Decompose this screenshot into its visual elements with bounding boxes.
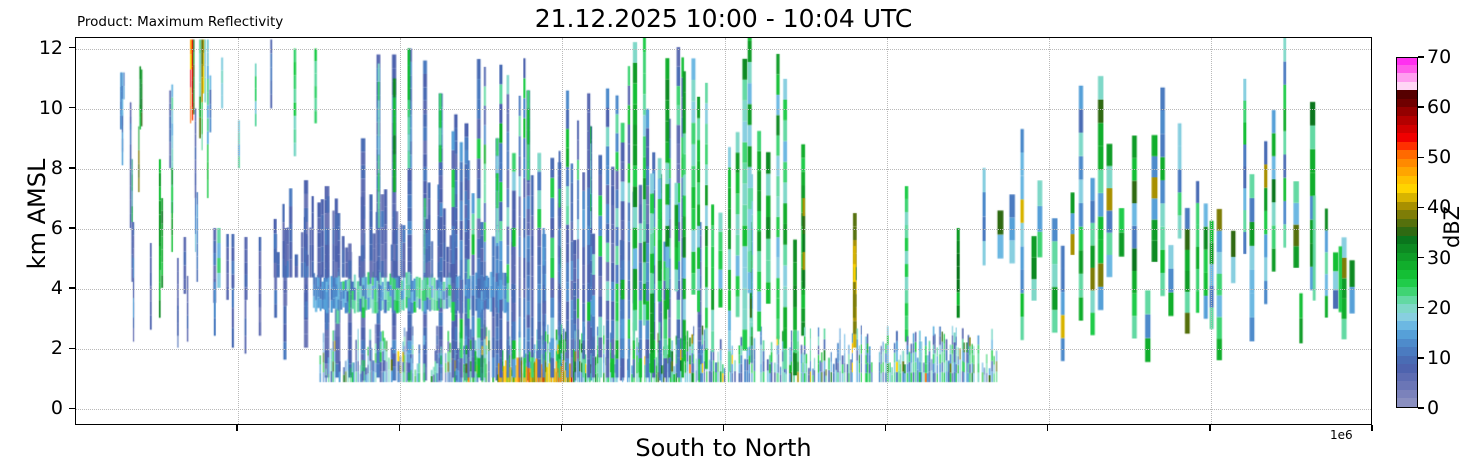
y-tick-label-8: 8	[51, 157, 63, 179]
colorbar-segment-22	[1397, 210, 1417, 219]
colorbar-label: dBZ	[1440, 167, 1464, 287]
colorbar-segment-18	[1397, 244, 1417, 253]
colorbar-segment-35	[1397, 98, 1417, 107]
gridline-y-2	[76, 349, 1371, 351]
x-tick-mark-1	[399, 425, 400, 431]
product-annotation: Product: Maximum Reflectivity	[77, 14, 283, 30]
colorbar-tick-label-20: 20	[1427, 297, 1451, 319]
y-tick-mark-12	[69, 47, 75, 48]
colorbar-tick-label-70: 70	[1427, 46, 1451, 68]
colorbar-segment-3	[1397, 372, 1417, 381]
x-tick-mark-4	[885, 425, 886, 431]
gridline-y-12	[76, 49, 1371, 51]
colorbar-tick-mark-30	[1418, 257, 1424, 258]
gridline-y-10	[76, 109, 1371, 111]
colorbar-segment-23	[1397, 201, 1417, 210]
x-axis-offset-text: 1e6	[1330, 428, 1353, 442]
x-tick-mark-5	[1047, 425, 1048, 431]
colorbar-tick-mark-70	[1418, 56, 1424, 57]
y-tick-label-0: 0	[51, 397, 63, 419]
gridline-x-2	[562, 38, 564, 424]
colorbar-segment-13	[1397, 287, 1417, 296]
colorbar-segment-16	[1397, 261, 1417, 270]
y-tick-mark-2	[69, 348, 75, 349]
colorbar-tick-mark-40	[1418, 207, 1424, 208]
gridline-y-8	[76, 169, 1371, 171]
colorbar-segment-7	[1397, 338, 1417, 347]
gridline-x-3	[725, 38, 727, 424]
gridline-x-5	[1049, 38, 1051, 424]
colorbar-segment-40	[1397, 57, 1417, 65]
gridline-y-4	[76, 289, 1371, 291]
x-tick-mark-0	[236, 425, 237, 431]
y-tick-mark-0	[69, 408, 75, 409]
colorbar-segment-39	[1397, 64, 1417, 73]
colorbar-segment-0	[1397, 398, 1417, 407]
colorbar-segment-15	[1397, 269, 1417, 278]
y-axis-label: km AMSL	[23, 99, 51, 329]
y-tick-label-12: 12	[39, 37, 63, 59]
colorbar-segment-2	[1397, 381, 1417, 390]
gridline-y-0	[76, 409, 1371, 411]
colorbar-segment-32	[1397, 124, 1417, 133]
x-tick-mark-7	[1371, 425, 1372, 431]
x-tick-mark-2	[561, 425, 562, 431]
radar-cross-section-figure: 21.12.2025 10:00 - 10:04 UTC Product: Ma…	[0, 0, 1482, 470]
colorbar-segment-1	[1397, 389, 1417, 398]
colorbar-segment-28	[1397, 158, 1417, 167]
colorbar-segment-12	[1397, 295, 1417, 304]
y-tick-mark-8	[69, 167, 75, 168]
x-axis-label: South to North	[75, 434, 1372, 462]
colorbar-segment-19	[1397, 235, 1417, 244]
gridline-x-0	[238, 38, 240, 424]
y-tick-label-2: 2	[51, 337, 63, 359]
x-tick-mark-6	[1209, 425, 1210, 431]
plot-area	[75, 37, 1372, 425]
y-tick-mark-4	[69, 287, 75, 288]
colorbar-tick-mark-10	[1418, 357, 1424, 358]
colorbar-segment-9	[1397, 321, 1417, 330]
colorbar-segment-30	[1397, 141, 1417, 150]
colorbar-tick-label-10: 10	[1427, 347, 1451, 369]
colorbar-tick-label-0: 0	[1427, 397, 1439, 419]
colorbar-segment-21	[1397, 218, 1417, 227]
colorbar-segment-37	[1397, 81, 1417, 90]
gridline-x-6	[1211, 38, 1213, 424]
colorbar-segment-36	[1397, 90, 1417, 99]
colorbar-segment-20	[1397, 227, 1417, 236]
colorbar-segment-5	[1397, 355, 1417, 364]
colorbar-segment-4	[1397, 364, 1417, 373]
colorbar-segment-34	[1397, 107, 1417, 116]
colorbar-segment-17	[1397, 252, 1417, 261]
colorbar-segment-31	[1397, 132, 1417, 141]
colorbar	[1396, 57, 1418, 408]
colorbar-segment-8	[1397, 329, 1417, 338]
colorbar-segment-14	[1397, 278, 1417, 287]
y-tick-label-4: 4	[51, 277, 63, 299]
colorbar-tick-mark-60	[1418, 106, 1424, 107]
colorbar-segment-25	[1397, 184, 1417, 193]
colorbar-tick-label-50: 50	[1427, 146, 1451, 168]
colorbar-tick-mark-50	[1418, 157, 1424, 158]
colorbar-segment-33	[1397, 115, 1417, 124]
gridline-x-4	[887, 38, 889, 424]
colorbar-segment-26	[1397, 175, 1417, 184]
colorbar-tick-mark-0	[1418, 407, 1424, 408]
colorbar-segment-11	[1397, 304, 1417, 313]
colorbar-segment-10	[1397, 312, 1417, 321]
y-tick-mark-10	[69, 107, 75, 108]
colorbar-segment-27	[1397, 167, 1417, 176]
colorbar-tick-label-60: 60	[1427, 96, 1451, 118]
colorbar-segment-38	[1397, 73, 1417, 82]
y-tick-label-6: 6	[51, 217, 63, 239]
reflectivity-canvas	[76, 38, 1371, 424]
colorbar-segment-29	[1397, 150, 1417, 159]
gridline-x-1	[400, 38, 402, 424]
gridline-y-6	[76, 229, 1371, 231]
colorbar-segment-24	[1397, 192, 1417, 201]
x-tick-mark-3	[723, 425, 724, 431]
y-tick-mark-6	[69, 227, 75, 228]
colorbar-segment-6	[1397, 346, 1417, 355]
colorbar-tick-mark-20	[1418, 307, 1424, 308]
